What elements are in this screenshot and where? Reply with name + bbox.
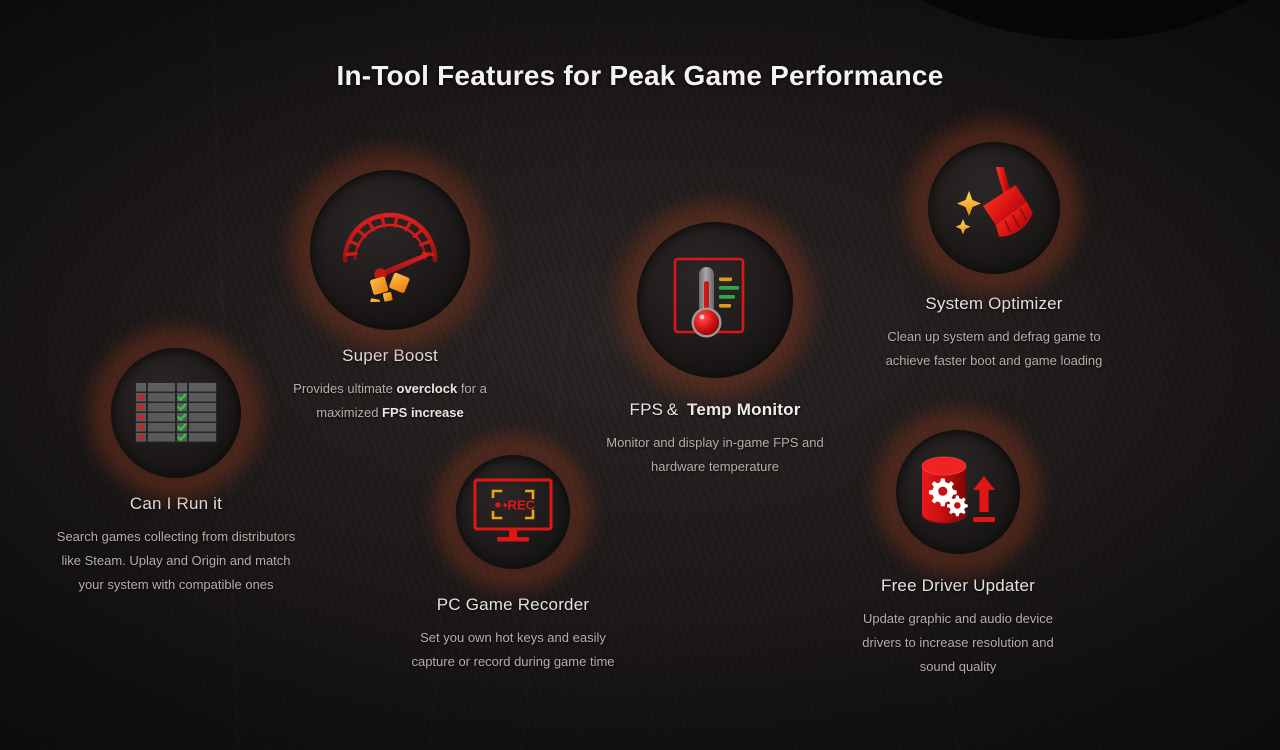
feature-free-driver-updater[interactable]: Free Driver Updater Update graphic and a… xyxy=(836,430,1080,679)
broom-sparkle-icon xyxy=(951,167,1037,249)
feature-icon-free-driver-updater xyxy=(896,430,1020,554)
feature-icon-fps-temp-monitor xyxy=(637,222,793,378)
feature-description: Set you own hot keys and easily capture … xyxy=(390,626,636,674)
description-line: like Steam. Uplay and Origin and match xyxy=(46,549,306,573)
thermometer-icon xyxy=(673,257,757,343)
description-line: maximized FPS increase xyxy=(282,401,498,425)
description-line: achieve faster boot and game loading xyxy=(856,349,1132,373)
icon-disc: •REC xyxy=(456,455,570,569)
feature-icon-pc-game-recorder: •REC xyxy=(456,455,570,569)
upload-arrow-icon xyxy=(973,476,995,522)
feature-super-boost[interactable]: Super Boost Provides ultimate overclock … xyxy=(282,170,498,425)
desc-text: Provides ultimate xyxy=(293,381,396,396)
rec-label: •REC xyxy=(503,498,536,513)
description-line: Update graphic and audio device xyxy=(836,607,1080,631)
title-segment-bold: Temp Monitor xyxy=(678,400,800,419)
description-line: sound quality xyxy=(836,655,1080,679)
compatibility-table-icon xyxy=(135,382,217,444)
description-line: capture or record during game time xyxy=(390,650,636,674)
description-line: your system with compatible ones xyxy=(46,573,306,597)
icon-disc xyxy=(928,142,1060,274)
feature-can-i-run-it[interactable]: Can I Run it Search games collecting fro… xyxy=(46,348,306,597)
description-line: drivers to increase resolution and xyxy=(836,631,1080,655)
feature-icon-system-optimizer xyxy=(928,142,1060,274)
title-segment: FPS & xyxy=(629,400,678,419)
desc-emphasis: FPS increase xyxy=(382,405,464,420)
page-title: In-Tool Features for Peak Game Performan… xyxy=(0,60,1280,92)
feature-system-optimizer[interactable]: System Optimizer Clean up system and def… xyxy=(856,142,1132,373)
desc-text: maximized xyxy=(316,405,382,420)
feature-pc-game-recorder[interactable]: •REC PC Game Recorder Set you own hot ke… xyxy=(390,455,636,674)
feature-title: PC Game Recorder xyxy=(390,595,636,615)
description-line: Search games collecting from distributor… xyxy=(46,525,306,549)
feature-description: Update graphic and audio device drivers … xyxy=(836,607,1080,679)
feature-icon-can-i-run-it xyxy=(111,348,241,478)
temperature-scale-bars xyxy=(719,278,739,308)
description-line: Provides ultimate overclock for a xyxy=(282,377,498,401)
feature-description: Provides ultimate overclock for a maximi… xyxy=(282,377,498,425)
icon-disc xyxy=(637,222,793,378)
icon-disc xyxy=(896,430,1020,554)
record-dot-icon xyxy=(495,502,500,507)
feature-description: Search games collecting from distributor… xyxy=(46,525,306,597)
description-line: Set you own hot keys and easily xyxy=(390,626,636,650)
desc-emphasis: overclock xyxy=(397,381,458,396)
feature-icon-super-boost xyxy=(310,170,470,330)
description-line: Monitor and display in-game FPS and xyxy=(592,431,838,455)
desc-text: for a xyxy=(457,381,487,396)
gear-small-icon xyxy=(947,496,968,517)
database-gears-arrow-icon xyxy=(916,454,1000,530)
monitor-rec-icon: •REC xyxy=(473,478,553,546)
feature-fps-temp-monitor[interactable]: FPS & Temp Monitor Monitor and display i… xyxy=(592,222,838,479)
speedometer-icon xyxy=(335,198,445,302)
icon-disc xyxy=(111,348,241,478)
sparkle-small-icon xyxy=(956,219,971,235)
feature-description: Clean up system and defrag game to achie… xyxy=(856,325,1132,373)
description-line: Clean up system and defrag game to xyxy=(856,325,1132,349)
icon-disc xyxy=(310,170,470,330)
title-segment: PC Game Recorder xyxy=(437,595,589,614)
sparkle-large-icon xyxy=(957,191,981,216)
